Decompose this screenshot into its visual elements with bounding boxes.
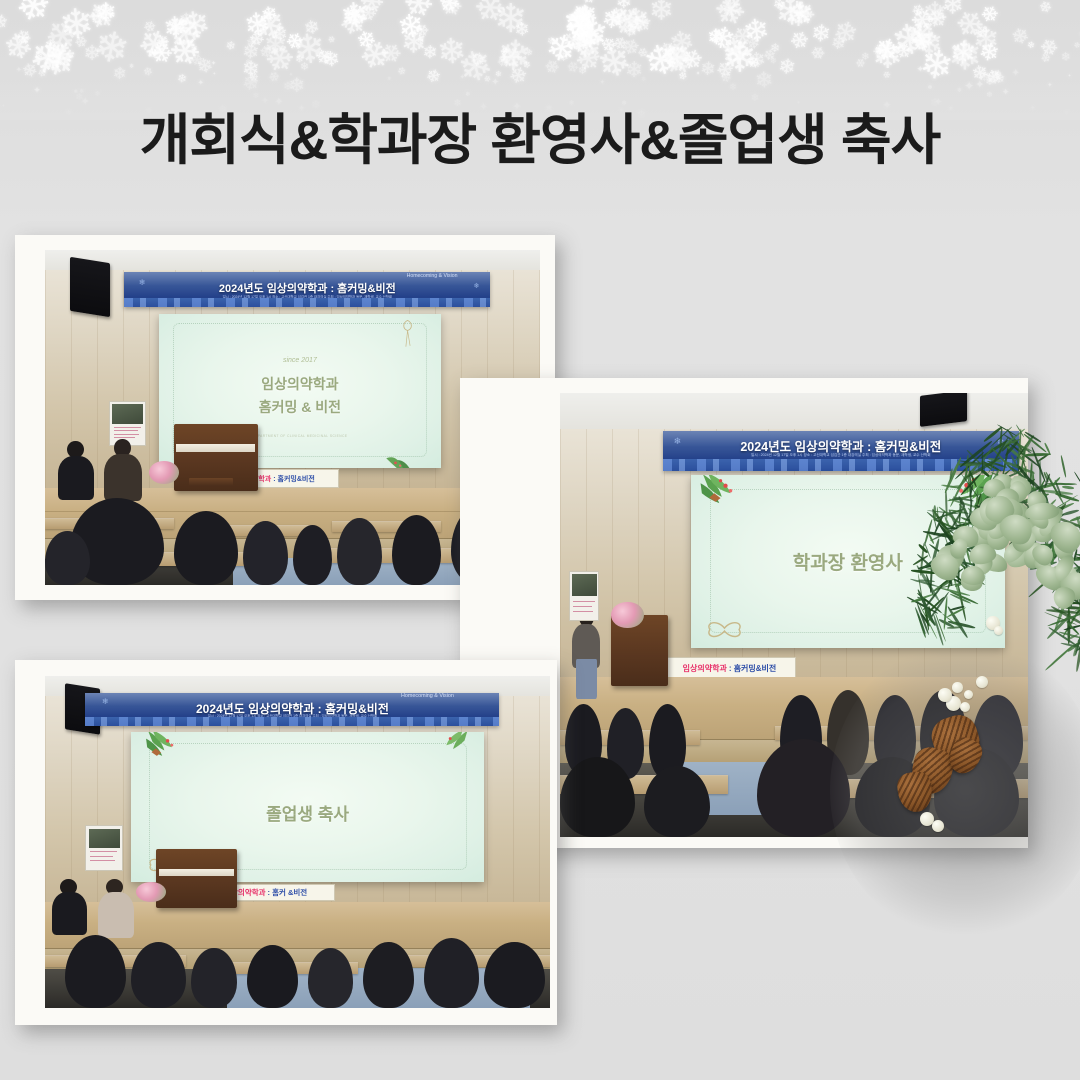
snowflake-icon: ❄ [908,28,938,55]
pine-needle-icon [1054,564,1080,578]
pine-needle-icon [1032,470,1034,488]
pine-needle-icon [1061,535,1080,550]
wall-poster [109,401,146,447]
pine-needle-icon [1050,543,1073,549]
snowflake-icon: ❄ [257,34,302,80]
snowflake-icon: ❄ [707,24,726,46]
sparkle-icon: ✦ [33,86,41,95]
pine-needle-icon [1023,483,1056,493]
snowflake-icon: ❄ [742,35,761,54]
poster-image [572,574,597,596]
pine-needle-icon [1044,473,1051,487]
banner-skyline [663,459,1019,471]
sparkle-icon: ✦ [1068,74,1072,78]
event-banner: Homecoming & Vision 2024년도 임상의약학과 : 홈커밍&… [124,272,490,307]
pine-needle-icon [1055,594,1071,606]
audience-person [247,945,298,1008]
pine-needle-icon [1035,510,1061,518]
slide-heading: 졸업생 축사 [131,800,485,825]
snowflake-icon: ❄ [0,10,14,35]
snowflake-icon: ❄ [245,68,260,83]
poster-text-line [90,860,115,861]
piano [156,849,237,909]
eucalyptus-leaf-icon [1029,540,1058,569]
pine-needle-icon [1060,642,1080,649]
snowflake-icon: ❄ [44,38,82,71]
pine-needle-icon [1076,554,1080,556]
snowflake-icon: ❄ [1037,0,1057,16]
pine-needle-icon [1052,505,1065,528]
snowflake-icon: ❄ [556,0,601,43]
sparkle-icon: ✦ [696,72,701,78]
snowflake-icon: ❄ [255,2,279,24]
wall-poster [85,825,122,870]
pine-needle-icon [1075,602,1080,614]
snowflake-icon: ❄ [1038,51,1054,67]
pine-needle-icon [1059,565,1064,586]
snowflake-icon: ❄ [677,68,688,81]
pine-needle-icon [1037,532,1052,571]
snowflake-icon: ❄ [973,39,1003,66]
snowflake-icon: ❄ [1073,39,1080,49]
snowflake-icon: ❄ [965,18,1006,57]
snowflake-icon: ❄ [468,0,514,33]
snowflake-icon: ❄ [71,34,88,49]
pine-needle-icon [1044,556,1058,569]
snowflake-icon: ❄ [776,54,803,81]
pine-needle-icon [1043,472,1049,483]
snowflake-icon: ❄ [401,24,429,56]
poster-text-line [114,434,140,435]
audience-person [308,948,353,1008]
sparkle-icon: ❄ [283,82,293,93]
snowflake-icon: ❄ [578,41,587,52]
pine-needle-icon [1031,509,1034,530]
snowflake-icon: ❄ [417,35,425,44]
snowflake-icon: ❄ [618,34,645,61]
snowflake-icon: ❄ [343,4,367,25]
snowflake-icon: ❄ [301,17,324,38]
snowflake-icon: ❄ [713,60,736,80]
slide-since: since 2017 [159,357,441,364]
snowflake-icon: ❄ [622,4,652,39]
pine-needle-icon [1030,561,1058,571]
snowflake-icon: ❄ [910,0,927,18]
audience-person [65,935,126,1008]
pine-needle-icon [1058,587,1080,613]
pine-needle-icon [1025,504,1059,514]
event-banner: 2024년도 임상의약학과 : 홈커밍&비전 일시 : 2024년 12월 17… [663,431,1019,471]
poster-text-line [114,430,138,431]
snowflake-icon: ❄ [653,36,702,86]
pine-needle-icon [1067,575,1076,591]
snowflake-icon: ❄ [423,65,446,88]
snowflake-icon: ❄ [649,0,674,22]
snowflake-icon: ❄ [37,66,50,77]
pine-needle-icon [1075,624,1080,655]
snowflake-icon: ❄ [873,43,894,60]
pine-needle-icon [1047,482,1077,485]
pine-needle-icon [1062,601,1077,605]
poster-text-line [573,611,593,612]
snowflake-icon: ❄ [788,28,814,51]
snowflake-icon: ❄ [153,34,170,49]
pine-needle-icon [1024,453,1051,457]
banner-skyline [124,298,490,307]
snowflake-icon: ❄ [716,28,753,70]
snowflake-icon: ❄ [413,21,433,42]
ceiling-speaker-icon [70,257,110,317]
pine-needle-icon [1068,558,1079,560]
pine-needle-icon [1046,561,1066,581]
poster-text-line [90,856,113,857]
sparkle-icon: ❄ [957,88,962,94]
banner-subline: 일시 : 2024년 12월 17일 오후 1시 장소 : 고신대학교 섬김관 … [663,453,1019,458]
snowflake-icon: ❄ [259,43,278,60]
pine-needle-icon [1070,513,1080,522]
snowflake-icon: ❄ [87,0,120,29]
snowflake-icon: ❄ [769,42,780,55]
pine-needle-icon [1074,471,1080,488]
sparkle-icon: ❄ [578,66,587,77]
pine-needle-icon [1028,477,1043,492]
snowflake-icon: ❄ [33,49,46,61]
lecture-hall-scene: Homecoming & Vision 2024년도 임상의약학과 : 홈커밍&… [45,676,550,1008]
poster-canvas: ❄❄❄❄❄❄❄❄❄❄❄❄❄❄❄❄❄❄❄❄❄❄❄❄❄❄❄❄❄❄❄❄❄❄❄❄❄❄❄❄… [0,0,1080,1080]
snowflake-icon: ❄ [267,70,282,83]
snowflake-icon: ❄ [169,15,184,33]
pine-needle-icon [1062,603,1080,638]
snowflake-icon: ❄ [787,0,820,31]
snowflake-icon: ❄ [355,3,378,23]
snowflake-icon: ❄ [49,0,101,46]
snowflake-icon: ❄ [625,58,644,80]
snowflake-icon: ❄ [949,0,990,43]
audience-person [644,766,710,837]
snowflake-icon: ❄ [259,26,296,61]
snowflake-icon: ❄ [159,4,212,58]
pine-needle-icon [1040,538,1056,563]
pine-needle-icon [1037,505,1048,518]
pine-needle-icon [1038,502,1074,519]
piano-bench [189,478,234,486]
snowflake-icon: ❄ [573,0,601,32]
snowflake-icon: ❄ [589,39,637,82]
snowflake-icon: ❄ [872,35,904,73]
pine-needle-icon [1058,586,1069,604]
snowflake-icon: ❄ [993,68,1005,78]
pine-needle-icon [1041,506,1062,518]
snowflake-icon: ❄ [468,50,487,72]
poster-image [112,404,142,424]
eucalyptus-leaf-icon [1049,531,1077,563]
pine-needle-icon [1055,523,1069,531]
pine-needle-icon [1046,475,1058,495]
snowflake-icon: ❄ [569,1,596,27]
snowflake-icon: ❄ [23,34,73,80]
sparkle-icon: ✦ [213,72,217,76]
snowflake-icon: ❄ [225,39,240,52]
pine-needle-icon [1051,536,1080,538]
snowflake-icon: ❄ [145,42,163,60]
snowflake-icon: ❄ [243,6,273,40]
sparkle-icon: ✦ [211,61,216,67]
pine-needle-icon [1028,571,1059,598]
audience-person [45,531,90,585]
pine-needle-icon [1048,513,1064,527]
snowflake-icon: ❄ [966,61,992,87]
pine-needle-icon [1048,494,1078,513]
snowflake-icon: ❄ [86,1,113,28]
pine-needle-icon [1045,537,1048,553]
snowflake-icon: ❄ [858,51,871,63]
pine-needle-icon [1051,577,1063,593]
snowflake-icon: ❄ [312,42,334,66]
pine-needle-icon [1046,609,1080,615]
sparkle-icon: ✦ [491,78,499,88]
pine-needle-icon [1023,544,1063,547]
pine-needle-icon [1057,535,1074,539]
event-banner: Homecoming & Vision 2024년도 임상의약학과 : 홈커밍&… [85,693,499,726]
pine-needle-icon [1074,641,1080,646]
pine-needle-icon [1053,502,1068,521]
snowflake-icon: ❄ [561,17,612,68]
sparkle-icon: ✦ [653,61,661,71]
pine-needle-icon [1044,611,1077,625]
podium-banner-blue: : 홈커 &비전 [268,887,308,898]
pine-needle-icon [1062,522,1080,542]
snowflake-icon: ❄ [1069,15,1080,59]
pine-needle-icon [1046,523,1069,530]
snowflake-icon: ❄ [806,43,828,66]
sparkle-icon: ✦ [289,73,293,78]
pine-needle-icon [1030,462,1033,485]
piano-keys [159,869,235,876]
snowflake-icon: ❄ [247,0,296,48]
pine-needle-icon [1050,532,1075,539]
pine-needle-icon [1046,472,1065,505]
snowflake-icon: ❄ [609,0,634,12]
snowflake-icon: ❄ [600,3,626,32]
pine-needle-icon [1052,540,1056,564]
pine-needle-icon [1031,446,1046,482]
photo-card-graduate-address: Homecoming & Vision 2024년도 임상의약학과 : 홈커밍&… [15,660,557,1025]
snowflake-icon: ❄ [745,52,764,72]
pine-needle-icon [1062,485,1074,489]
pine-needle-icon [1076,532,1080,544]
pine-needle-icon [1077,575,1080,604]
pine-needle-icon [1037,454,1050,463]
snowflake-icon: ❄ [541,55,564,78]
snowflake-icon: ❄ [170,2,217,48]
snowflake-icon: ❄ [566,27,598,56]
pine-needle-icon [1046,613,1072,639]
podium-banner: 임상의약학과 : 홈커밍&비전 [663,657,796,679]
snowflake-icon: ❄ [111,62,132,82]
snowflake-icon: ❄ [557,4,601,50]
snowflake-icon: ❄ [983,63,1003,85]
audience-person [191,948,236,1008]
snowflake-icon: ❄ [719,71,734,87]
snowflake-icon: ❄ [555,49,571,64]
snowflake-icon: ❄ [749,66,777,92]
pine-needle-icon [1060,520,1067,553]
eucalyptus-leaf-icon [1056,566,1080,605]
snowflake-icon: ❄ [882,70,892,78]
snowflake-icon: ❄ [332,0,375,43]
snowflake-icon: ❄ [326,35,336,44]
pine-needle-icon [1039,459,1042,497]
eucalyptus-leaf-icon [1024,502,1059,522]
audience-person [174,511,238,585]
sparkle-icon: ✦ [198,79,204,87]
sparkle-icon: ❄ [129,64,134,70]
snowflake-icon: ❄ [375,42,402,65]
pine-needle-icon [1041,490,1073,496]
pine-needle-icon [1061,509,1079,516]
snowflake-icon: ❄ [283,26,308,53]
snowflake-icon: ❄ [11,0,56,32]
pine-needle-icon [1074,555,1080,563]
slide-line-1: 임상의약학과 [159,374,441,394]
page-title: 개회식&학과장 환영사&졸업생 축사 [0,95,1080,175]
snowflake-icon: ❄ [975,0,1003,28]
snowflake-icon: ❄ [1036,36,1060,56]
snowflake-icon: ❄ [895,40,917,59]
slide-welcome: 학과장 환영사 [691,475,1005,648]
snowflake-icon: ❄ [524,47,535,57]
sparkle-icon: ✦ [1011,69,1020,79]
snowflake-icon: ❄ [765,0,814,33]
snowflake-icon: ❄ [767,56,777,66]
podium-banner-red: 임상의약학과 [683,663,727,674]
snowflake-icon: ❄ [949,34,978,67]
snowflake-icon: ❄ [905,24,949,66]
snowflake-icon: ❄ [898,7,948,57]
pine-needle-icon [1074,552,1080,560]
sparkle-icon: ✦ [16,66,22,74]
pine-needle-icon [1044,643,1075,671]
pine-needle-icon [1054,595,1069,631]
snowflake-icon: ❄ [189,43,200,53]
snowflake-icon: ❄ [292,52,305,64]
snowflake-icon: ❄ [20,60,42,80]
snowflake-icon: ❄ [494,0,527,35]
pine-needle-icon [1058,544,1069,570]
snowflake-icon: ❄ [558,25,590,54]
poster-text-line [114,427,141,428]
sparkle-icon: ❄ [387,77,391,82]
snowflake-icon: ❄ [573,10,611,53]
snowflake-icon: ❄ [149,41,177,65]
snowflake-icon: ❄ [511,17,535,40]
snowflake-icon: ❄ [1027,39,1038,49]
pine-needle-icon [1044,540,1055,556]
pine-needle-icon [1031,501,1035,513]
sparkle-icon: ❄ [245,60,251,67]
pine-needle-icon [1045,498,1057,510]
sparkle-icon: ❄ [729,82,737,91]
sparkle-icon: ❄ [641,77,646,83]
snowflake-icon: ❄ [507,64,532,87]
pine-needle-icon [1051,476,1061,486]
snowflake-icon: ❄ [354,34,396,79]
sparkle-icon: ✦ [460,75,465,82]
sparkle-icon: ❄ [985,77,994,88]
pine-needle-icon [1059,631,1080,639]
banner-skyline [85,717,499,726]
snowflake-icon: ❄ [853,55,867,70]
snowflake-icon: ❄ [909,6,939,31]
pine-needle-icon [1059,563,1062,600]
pine-needle-icon [1073,565,1080,570]
snowflake-icon: ❄ [666,23,696,57]
snowflake-icon: ❄ [620,19,643,42]
snowflake-icon: ❄ [997,437,1005,448]
pine-needle-icon [1039,522,1045,533]
snowflake-icon: ❄ [236,37,263,63]
podium-banner-blue: : 홈커밍&비전 [273,474,315,484]
flower-arrangement [136,882,166,902]
snowflake-icon: ❄ [37,34,81,82]
pine-needle-icon [1039,521,1041,536]
sparkle-icon: ✦ [600,80,605,86]
snowflake-icon: ❄ [13,27,35,51]
sparkle-icon: ✦ [964,80,974,92]
projector-screen: 학과장 환영사 [691,475,1005,648]
pine-needle-icon [1065,569,1072,590]
snowflake-icon: ❄ [938,31,990,81]
ceiling-speaker-icon [920,393,967,427]
snowflake-icon: ❄ [335,0,377,34]
snowflake-icon: ❄ [924,1,952,31]
snowflake-icon: ❄ [888,16,930,64]
snowflake-icon: ❄ [1059,49,1074,63]
snowflake-icon: ❄ [188,51,206,70]
pine-needle-icon [1074,557,1080,562]
pine-needle-icon [1053,536,1069,560]
snowflake-icon: ❄ [935,0,970,20]
pine-needle-icon [1073,577,1080,586]
snowflake-icon: ❄ [496,46,508,56]
snowflake-icon: ❄ [244,27,269,52]
snowflake-icon: ❄ [495,53,514,72]
snowflake-icon: ❄ [78,0,122,36]
snowflake-icon: ❄ [397,63,408,75]
pine-needle-icon [1061,534,1072,572]
snowflake-icon: ❄ [603,2,634,30]
pine-needle-icon [1066,621,1080,635]
eucalyptus-leaf-icon [1049,583,1079,613]
snowflake-icon: ❄ [917,0,955,31]
snowflake-icon: ❄ [0,28,41,65]
banner-english: Homecoming & Vision [401,693,454,699]
snowflake-icon: ❄ [654,33,696,78]
pine-needle-icon [1070,589,1073,607]
pine-needle-icon [1044,443,1051,455]
snowflake-icon: ❄ [354,26,380,55]
pine-needle-icon [1072,642,1080,657]
snowflake-icon: ❄ [166,33,207,69]
snowflake-icon: ❄ [139,278,146,287]
snowflake-icon: ❄ [139,65,154,80]
snowflake-icon: ❄ [715,0,746,25]
pine-needle-icon [1044,495,1051,510]
snowflake-icon: ❄ [486,27,540,79]
podium-banner-blue: : 홈커밍&비전 [729,663,776,674]
pine-needle-icon [1055,510,1057,549]
pine-needle-icon [1072,557,1080,561]
